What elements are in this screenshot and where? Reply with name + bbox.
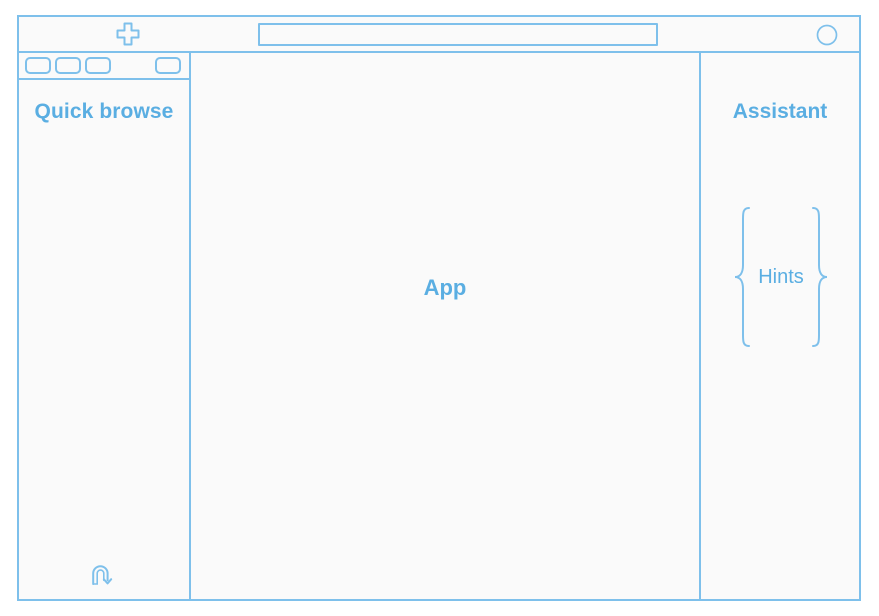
hints-label: Hints — [754, 266, 808, 289]
new-tab-button[interactable] — [97, 17, 159, 51]
sidebar-chip-two[interactable] — [55, 57, 81, 74]
assistant-title: Assistant — [701, 99, 859, 125]
wireframe-window: Quick browse App Assistant Hints — [17, 15, 861, 601]
circle-avatar-icon[interactable] — [816, 24, 838, 46]
assistant-panel: Assistant Hints — [701, 53, 859, 599]
hints-group: Hints — [715, 205, 847, 349]
window-body: Quick browse App Assistant Hints — [19, 53, 859, 599]
sidebar-chip-one[interactable] — [25, 57, 51, 74]
quick-browse-sidebar: Quick browse — [19, 53, 191, 599]
browser-topbar — [19, 17, 859, 53]
sidebar-chip-three[interactable] — [85, 57, 111, 74]
app-placeholder-label: App — [424, 275, 467, 301]
address-search-input[interactable] — [258, 23, 658, 46]
app-content-area[interactable]: App — [191, 53, 701, 599]
plus-icon — [115, 21, 141, 47]
left-curly-brace-icon — [732, 205, 754, 349]
right-curly-brace-icon — [808, 205, 830, 349]
sidebar-toolbar — [19, 53, 189, 80]
u-turn-arrow-icon[interactable] — [87, 561, 115, 589]
sidebar-chip-overflow[interactable] — [155, 57, 181, 74]
sidebar-title: Quick browse — [19, 99, 189, 125]
